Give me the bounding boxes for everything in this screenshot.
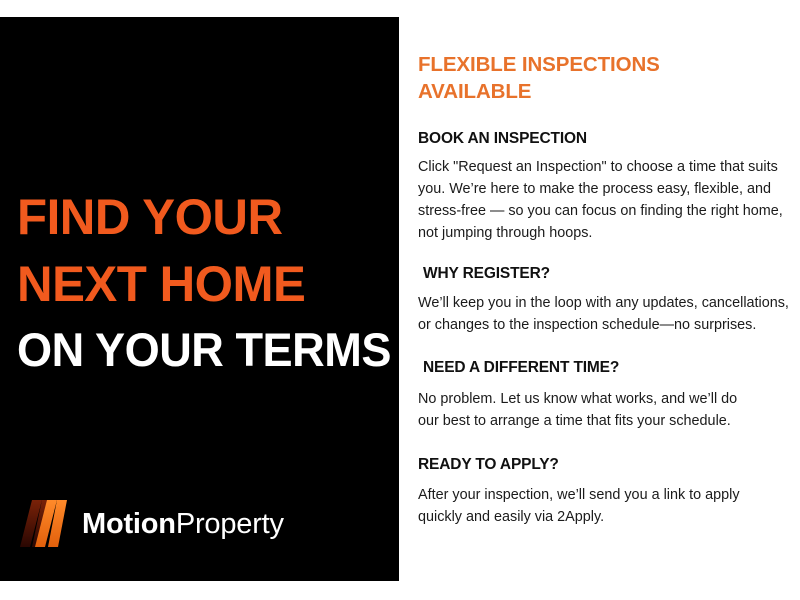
section-body-book-an-inspection: Click "Request an Inspection" to choose … <box>418 157 790 245</box>
brand-wordmark-strong: Motion <box>82 508 176 540</box>
section-heading-book-an-inspection: BOOK AN INSPECTION <box>418 130 793 149</box>
section-ready-to-apply: READY TO APPLY? After your inspection, w… <box>418 456 793 528</box>
section-heading-why-register: WHY REGISTER? <box>418 265 793 284</box>
section-heading-need-a-different-time: NEED A DIFFERENT TIME? <box>418 359 793 378</box>
brand-wordmark-light: Property <box>176 508 284 540</box>
hero-headline-line-3: ON YOUR TERMS <box>17 327 377 373</box>
brand-wordmark: MotionProperty <box>82 510 284 539</box>
section-heading-ready-to-apply: READY TO APPLY? <box>418 456 793 475</box>
section-body-ready-to-apply: After your inspection, we’ll send you a … <box>418 485 748 529</box>
motion-property-m-logo-icon <box>18 500 70 548</box>
section-book-an-inspection: BOOK AN INSPECTION Click "Request an Ins… <box>418 130 793 245</box>
section-body-why-register: We’ll keep you in the loop with any upda… <box>418 293 790 337</box>
section-body-need-a-different-time: No problem. Let us know what works, and … <box>418 389 748 433</box>
hero-panel: FIND YOUR NEXT HOME ON YOUR TERMS <box>0 17 399 581</box>
hero-headline: FIND YOUR NEXT HOME ON YOUR TERMS <box>17 193 392 373</box>
section-why-register: WHY REGISTER? We’ll keep you in the loop… <box>418 265 793 337</box>
content-panel: FLEXIBLE INSPECTIONS AVAILABLE BOOK AN I… <box>418 0 793 600</box>
content-title: FLEXIBLE INSPECTIONS AVAILABLE <box>418 0 708 106</box>
section-need-a-different-time: NEED A DIFFERENT TIME? No problem. Let u… <box>418 359 793 432</box>
hero-headline-line-1: FIND YOUR <box>17 193 386 242</box>
hero-headline-line-2: NEXT HOME <box>17 260 386 309</box>
inspection-info-page: FIND YOUR NEXT HOME ON YOUR TERMS <box>0 0 800 600</box>
brand-logo: MotionProperty <box>18 500 284 548</box>
